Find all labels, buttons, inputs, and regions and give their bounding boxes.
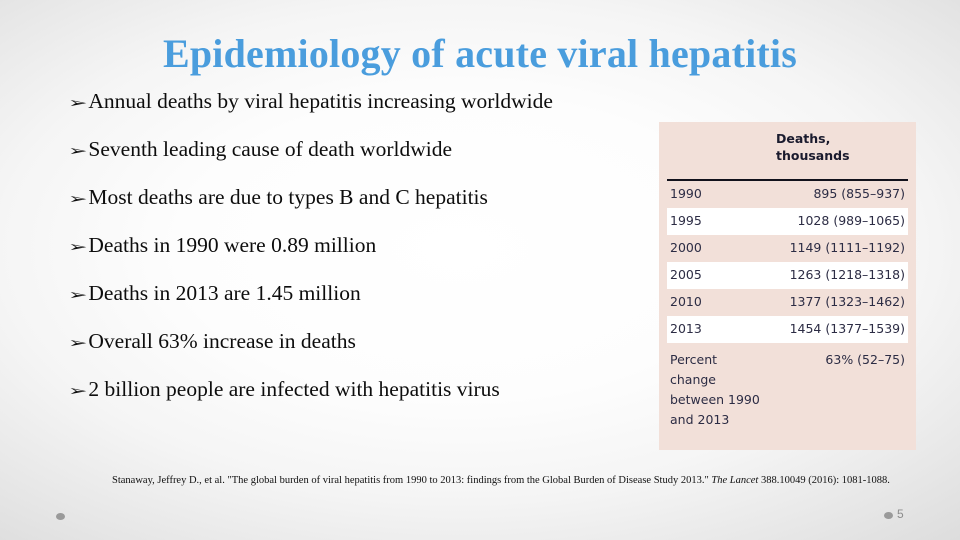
list-item: ➢ Most deaths are due to types B and C h… [68,184,648,232]
list-item: ➢ 2 billion people are infected with hep… [68,376,648,424]
list-item-label: Deaths in 2013 are 1.45 million [88,280,360,306]
table-cell-year: 1990 [659,186,764,202]
arrowhead-bullet-icon: ➢ [68,92,87,115]
table-row-percent-change: Percent change between 1990 and 2013 63%… [659,343,916,450]
arrowhead-bullet-icon: ➢ [68,284,87,307]
table-cell-deaths: 1377 (1323–1462) [764,294,916,310]
list-item: ➢ Seventh leading cause of death worldwi… [68,136,648,184]
table-row: 2000 1149 (1111–1192) [659,235,916,262]
citation: Stanaway, Jeffrey D., et al. "The global… [112,474,892,488]
arrowhead-bullet-icon: ➢ [68,332,87,355]
page-number: 5 [897,506,904,522]
list-item: ➢ Deaths in 2013 are 1.45 million [68,280,648,328]
table-cell-deaths: 1149 (1111–1192) [764,240,916,256]
list-item: ➢ Overall 63% increase in deaths [68,328,648,376]
list-item-label: Deaths in 1990 were 0.89 million [88,232,376,258]
table-row: 2005 1263 (1218–1318) [667,262,908,289]
table-cell-year: 2010 [659,294,764,310]
arrowhead-bullet-icon: ➢ [68,380,87,403]
table-cell-deaths: 895 (855–937) [764,186,916,202]
table-cell-year: 2013 [667,321,772,337]
table-row: 2010 1377 (1323–1462) [659,289,916,316]
arrowhead-bullet-icon: ➢ [68,236,87,259]
table-body: 1990 895 (855–937) 1995 1028 (989–1065) … [659,181,916,450]
table-row: 2013 1454 (1377–1539) [667,316,908,343]
table-row: 1990 895 (855–937) [659,181,916,208]
table-cell-deaths: 1454 (1377–1539) [772,321,908,337]
deaths-table-figure: Deaths, thousands 1990 895 (855–937) 199… [659,122,916,450]
slide-canvas: Epidemiology of acute viral hepatitis ➢ … [0,0,960,540]
bullet-list: ➢ Annual deaths by viral hepatitis incre… [68,88,648,424]
table-cell-percent-label: Percent change between 1990 and 2013 [659,350,764,430]
arrowhead-bullet-icon: ➢ [68,188,87,211]
table-column-header-deaths: Deaths, thousands [776,131,896,164]
list-item-label: Overall 63% increase in deaths [88,328,355,354]
footer-dot-right-icon [884,512,893,519]
table-cell-year: 1995 [667,213,772,229]
arrowhead-bullet-icon: ➢ [68,140,87,163]
list-item: ➢ Deaths in 1990 were 0.89 million [68,232,648,280]
table-cell-year: 2005 [667,267,772,283]
table-cell-deaths: 1028 (989–1065) [772,213,908,229]
list-item-label: Annual deaths by viral hepatitis increas… [88,88,553,114]
list-item: ➢ Annual deaths by viral hepatitis incre… [68,88,648,136]
table-cell-percent-value: 63% (52–75) [764,350,916,370]
list-item-label: 2 billion people are infected with hepat… [88,376,499,402]
table-cell-deaths: 1263 (1218–1318) [772,267,908,283]
footer-dot-left-icon [56,513,65,520]
table-header: Deaths, thousands [659,122,916,179]
table-row: 1995 1028 (989–1065) [667,208,908,235]
citation-journal: The Lancet [711,475,758,486]
table-cell-year: 2000 [659,240,764,256]
citation-part-2: 388.10049 (2016): 1081-1088. [758,475,890,486]
page-title: Epidemiology of acute viral hepatitis [60,30,900,78]
list-item-label: Seventh leading cause of death worldwide [88,136,452,162]
list-item-label: Most deaths are due to types B and C hep… [88,184,487,210]
citation-part-1: Stanaway, Jeffrey D., et al. "The global… [112,475,711,486]
